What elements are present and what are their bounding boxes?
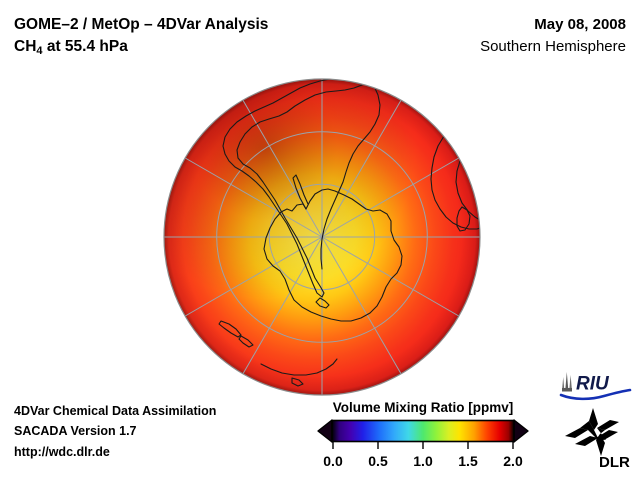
colorbar-extend-low-arrow bbox=[318, 420, 332, 442]
riu-towers-icon bbox=[562, 372, 572, 392]
riu-wordmark: RIU bbox=[576, 374, 610, 395]
globe-map bbox=[163, 78, 481, 396]
dlr-logo: DLR bbox=[563, 408, 631, 470]
header-right-block: May 08, 2008 Southern Hemisphere bbox=[480, 14, 626, 58]
colorbar-tick-label-0: 0.0 bbox=[323, 453, 343, 469]
colorbar-svg: 0.0 0.5 1.0 1.5 2.0 bbox=[310, 416, 536, 472]
credit-line-assimilation: 4DVar Chemical Data Assimilation bbox=[14, 401, 216, 421]
riu-logo: RIU bbox=[558, 369, 632, 401]
header-left-block: GOME–2 / MetOp – 4DVar Analysis CH4 at 5… bbox=[14, 14, 268, 59]
credit-line-version: SACADA Version 1.7 bbox=[14, 421, 216, 441]
hemisphere-label: Southern Hemisphere bbox=[480, 36, 626, 58]
species-subscript: 4 bbox=[36, 45, 42, 57]
credit-line-url: http://wdc.dlr.de bbox=[14, 442, 216, 462]
colorbar-tick-label-4: 2.0 bbox=[503, 453, 523, 469]
species-subtitle: CH4 at 55.4 hPa bbox=[14, 36, 268, 58]
colorbar-block: Volume Mixing Ratio [ppmv] bbox=[310, 400, 536, 472]
colorbar-ticks bbox=[333, 442, 513, 449]
colorbar-tick-label-2: 1.0 bbox=[413, 453, 433, 469]
footer-credits: 4DVar Chemical Data Assimilation SACADA … bbox=[14, 401, 216, 462]
colorbar-gradient bbox=[332, 421, 514, 442]
page-title: GOME–2 / MetOp – 4DVar Analysis bbox=[14, 14, 268, 36]
colorbar-extend-high-arrow bbox=[514, 420, 528, 442]
colorbar-tick-label-1: 0.5 bbox=[368, 453, 388, 469]
dlr-emblem-icon bbox=[565, 408, 619, 456]
species-label: CH bbox=[14, 38, 36, 55]
date-label: May 08, 2008 bbox=[480, 14, 626, 36]
dlr-wordmark: DLR bbox=[599, 454, 630, 470]
colorbar-title: Volume Mixing Ratio [ppmv] bbox=[310, 400, 536, 415]
colorbar-tick-label-3: 1.5 bbox=[458, 453, 478, 469]
pressure-level-label: at 55.4 hPa bbox=[43, 38, 128, 55]
globe-svg bbox=[163, 78, 481, 396]
